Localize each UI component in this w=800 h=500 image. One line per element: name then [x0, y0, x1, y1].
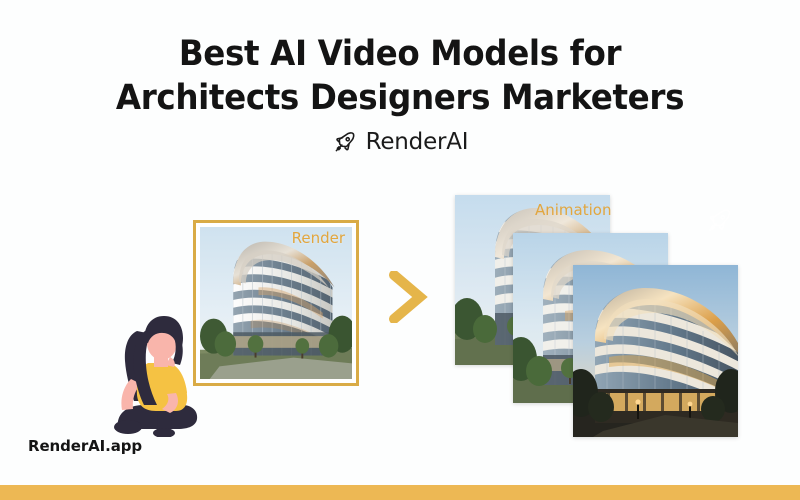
title-line-1: Best AI Video Models for — [28, 32, 772, 76]
rocket-icon-white — [705, 207, 733, 235]
promo-slide: Best AI Video Models for Architects Desi… — [0, 0, 800, 500]
brand-lockup: RenderAI — [0, 129, 800, 155]
footer-url[interactable]: RenderAI.app — [28, 437, 142, 455]
title-line-2: Architects Designers Marketers — [28, 76, 772, 120]
architectural-render-daytime — [200, 227, 352, 379]
animation-stack: Animation — [455, 195, 745, 440]
render-card-image: Render — [200, 227, 352, 379]
bottom-accent-bar — [0, 485, 800, 500]
rocket-icon — [332, 130, 357, 155]
heading-block: Best AI Video Models for Architects Desi… — [0, 32, 800, 155]
animation-frame-3[interactable] — [573, 265, 738, 437]
chevron-right-icon — [386, 271, 428, 323]
brand-name: RenderAI — [366, 129, 469, 155]
page-title: Best AI Video Models for Architects Desi… — [28, 32, 772, 120]
render-label: Render — [292, 229, 345, 247]
animation-label: Animation — [535, 201, 611, 219]
render-card[interactable]: Render — [193, 220, 359, 386]
